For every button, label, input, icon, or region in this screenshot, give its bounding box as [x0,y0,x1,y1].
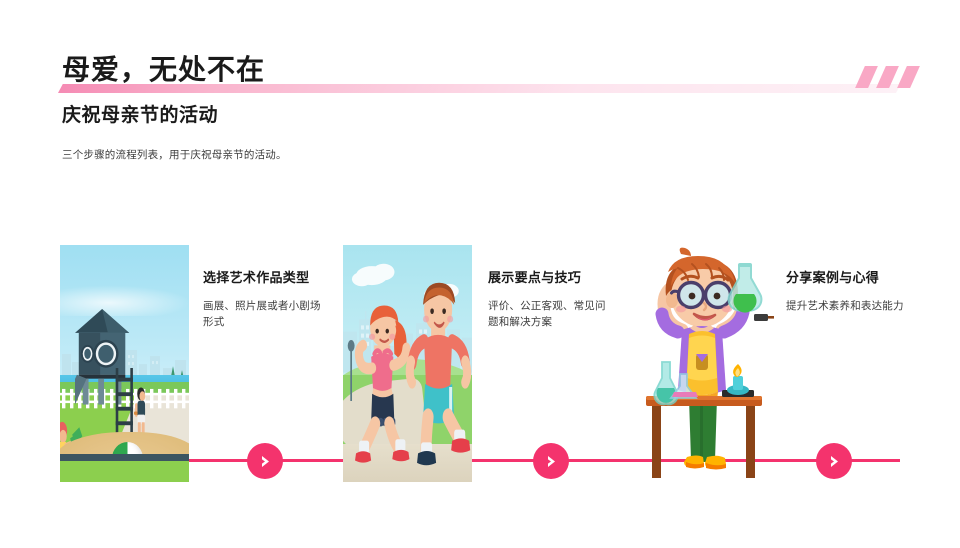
step-2-text: 展示要点与技巧 评价、公正客观、常见问题和解决方案 [488,267,606,331]
boy-scientist-icon [626,246,774,484]
slant-bar-icon [897,66,920,88]
step-1-text: 选择艺术作品类型 画展、照片展或者小剧场形式 [203,267,321,331]
title-divider [58,84,901,93]
slanted-bars-decoration [860,66,915,88]
page-title: 母爱，无处不在 [62,48,265,88]
step-3-heading: 分享案例与心得 [786,267,906,286]
step-image-1 [60,245,189,482]
page-subtitle: 庆祝母亲节的活动 [62,100,218,127]
timeline-node-1[interactable] [247,443,283,479]
step-2-body: 评价、公正客观、常见问题和解决方案 [488,298,606,331]
slant-bar-icon [855,66,878,88]
page-description: 三个步骤的流程列表，用于庆祝母亲节的活动。 [62,147,287,162]
chevron-right-icon [828,454,841,469]
step-3-body: 提升艺术素养和表达能力 [786,298,906,314]
step-1-heading: 选择艺术作品类型 [203,267,321,286]
slide-canvas: 母爱，无处不在 庆祝母亲节的活动 三个步骤的流程列表，用于庆祝母亲节的活动。 [0,0,960,548]
man-jogger-icon [402,278,472,468]
foreground-grass [60,461,189,482]
chevron-right-icon [259,454,272,469]
chevron-right-icon [545,454,558,469]
step-image-3 [626,246,774,484]
step-image-2 [343,245,472,482]
step-2-heading: 展示要点与技巧 [488,267,606,286]
step-1-body: 画展、照片展或者小剧场形式 [203,298,321,331]
timeline-node-2[interactable] [533,443,569,479]
timeline-node-3[interactable] [816,443,852,479]
step-3-text: 分享案例与心得 提升艺术素养和表达能力 [786,267,906,314]
slant-bar-icon [876,66,899,88]
